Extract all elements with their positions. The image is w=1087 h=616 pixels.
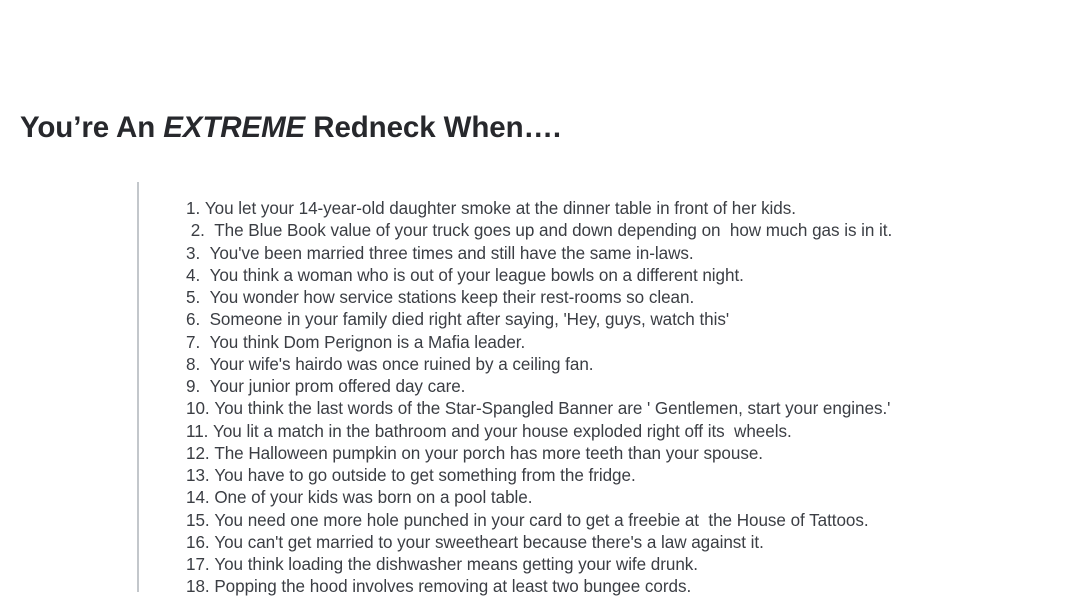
list-item-text: The Halloween pumpkin on your porch has … (214, 443, 1076, 465)
list-item-text: You need one more hole punched in your c… (214, 510, 1076, 532)
list-item-number: 3. (186, 243, 210, 265)
list-item: 16. You can't get married to your sweeth… (186, 532, 1076, 554)
list-item-number: 13. (186, 465, 214, 487)
list-item: 14. One of your kids was born on a pool … (186, 487, 1076, 509)
list-item-number: 8. (186, 354, 210, 376)
page-title-part1: You’re An (20, 111, 163, 144)
list-item: 9. Your junior prom offered day care. (186, 376, 1076, 398)
list-item-number: 5. (186, 287, 210, 309)
list-item-text: You think a woman who is out of your lea… (210, 265, 1076, 287)
list-item-number: 14. (186, 487, 214, 509)
list-item-text: You can't get married to your sweetheart… (214, 532, 1076, 554)
list-item-text: Your wife's hairdo was once ruined by a … (210, 354, 1076, 376)
page-title-emphasis: EXTREME (163, 111, 305, 144)
list-item-number: 15. (186, 510, 214, 532)
list-item: 11. You lit a match in the bathroom and … (186, 421, 1076, 443)
list-item: 2. The Blue Book value of your truck goe… (186, 220, 1076, 242)
list-item: 15. You need one more hole punched in yo… (186, 510, 1076, 532)
list-item: 18. Popping the hood involves removing a… (186, 576, 1076, 598)
list-item-number: 7. (186, 332, 210, 354)
list-item: 5. You wonder how service stations keep … (186, 287, 1076, 309)
list-item: 4. You think a woman who is out of your … (186, 265, 1076, 287)
list-item-text: You have to go outside to get something … (214, 465, 1076, 487)
list-item: 8. Your wife's hairdo was once ruined by… (186, 354, 1076, 376)
list-item-text: The Blue Book value of your truck goes u… (214, 220, 1076, 242)
list-item-text: Popping the hood involves removing at le… (214, 576, 1076, 598)
list-item-number: 4. (186, 265, 210, 287)
list-item-number: 10. (186, 398, 214, 420)
page-title-part2: Redneck When…. (305, 111, 561, 144)
list-item-number: 12. (186, 443, 214, 465)
list-item-number: 6. (186, 309, 210, 331)
list-item-text: You think the last words of the Star-Spa… (214, 398, 1076, 420)
list-item-text: You let your 14-year-old daughter smoke … (205, 198, 1076, 220)
list-item-text: You wonder how service stations keep the… (210, 287, 1076, 309)
list-item-text: You think loading the dishwasher means g… (214, 554, 1076, 576)
list-item-text: Someone in your family died right after … (210, 309, 1076, 331)
page-title: You’re An EXTREME Redneck When…. (20, 111, 561, 146)
redneck-list: 1. You let your 14-year-old daughter smo… (186, 198, 1076, 599)
list-item-number: 2. (186, 220, 214, 242)
list-item: 10. You think the last words of the Star… (186, 398, 1076, 420)
list-item: 17. You think loading the dishwasher mea… (186, 554, 1076, 576)
list-item: 7. You think Dom Perignon is a Mafia lea… (186, 332, 1076, 354)
list-item-text: Your junior prom offered day care. (210, 376, 1076, 398)
list-item-number: 16. (186, 532, 214, 554)
list-item: 6. Someone in your family died right aft… (186, 309, 1076, 331)
list-item-number: 9. (186, 376, 210, 398)
list-item-text: You've been married three times and stil… (210, 243, 1076, 265)
list-item-text: You think Dom Perignon is a Mafia leader… (210, 332, 1076, 354)
list-item: 13. You have to go outside to get someth… (186, 465, 1076, 487)
list-item-number: 1. (186, 198, 205, 220)
list-item: 12. The Halloween pumpkin on your porch … (186, 443, 1076, 465)
list-item-number: 17. (186, 554, 214, 576)
document-page: You’re An EXTREME Redneck When…. 1. You … (0, 0, 1087, 616)
list-item: 1. You let your 14-year-old daughter smo… (186, 198, 1076, 220)
list-item-text: You lit a match in the bathroom and your… (213, 421, 1076, 443)
list-item-number: 11. (186, 421, 213, 443)
list-item-number: 18. (186, 576, 214, 598)
list-item: 3. You've been married three times and s… (186, 243, 1076, 265)
list-item-text: One of your kids was born on a pool tabl… (214, 487, 1076, 509)
vertical-divider-rule (137, 182, 139, 592)
